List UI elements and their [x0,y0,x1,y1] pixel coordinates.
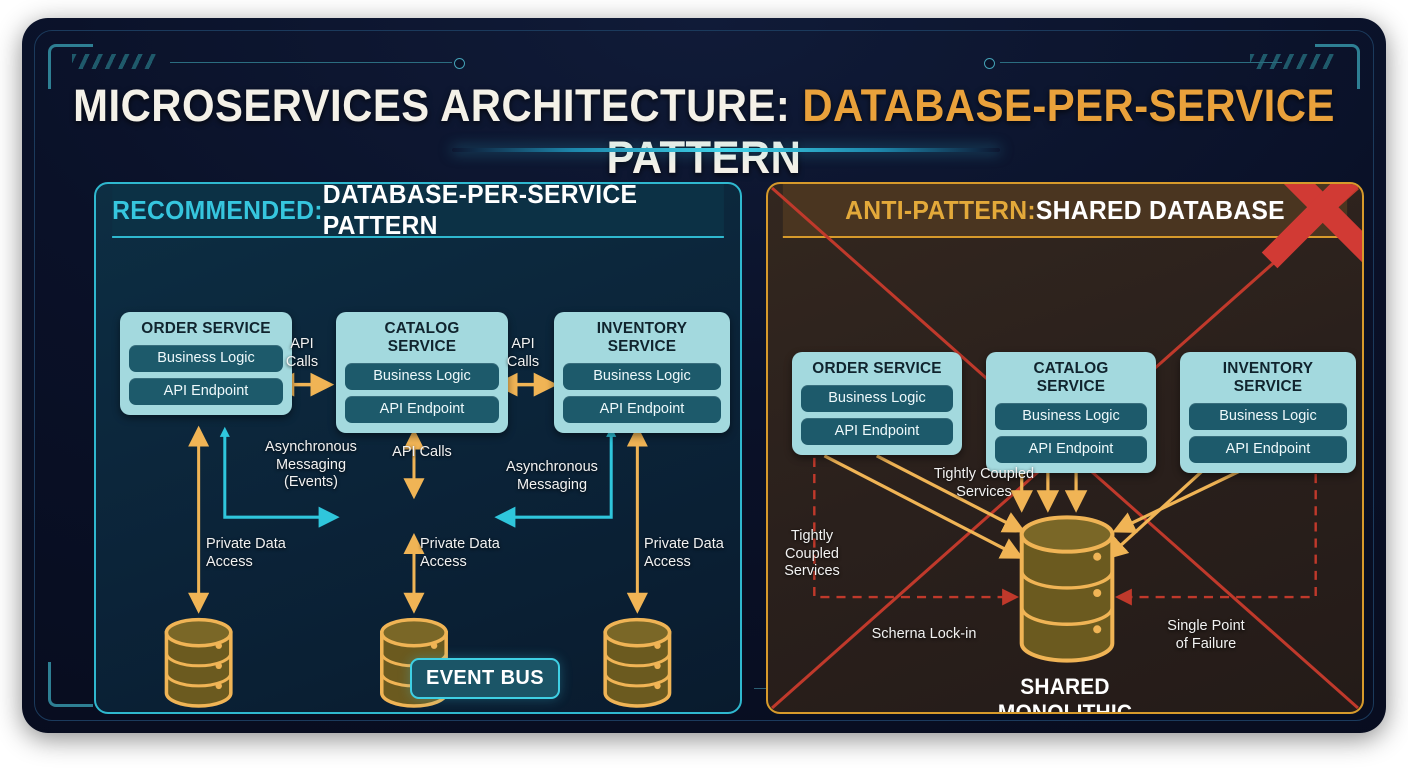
service-name: ORDER SERVICE [132,320,280,338]
service-row-api-endpoint[interactable]: API Endpoint [1189,436,1347,463]
event-bus-node[interactable]: EVENT BUS [410,658,560,699]
service-name: CATALOG SERVICE [348,320,496,356]
recommended-label: RECOMMENDED: [112,195,323,226]
db-name: ORDER DB [122,710,274,714]
label-tightly-coupled-left: Tightly Coupled Services [770,528,854,581]
label-async-left: Asynchronous Messaging (Events) [244,439,378,492]
hatch-marks-left-icon [72,54,158,69]
db-name: CATALOG DB [332,710,494,714]
recommended-panel-body: ORDER SERVICE Business Logic API Endpoin… [96,236,740,712]
header-rail-left [170,62,452,63]
service-card-inventory-shared[interactable]: INVENTORY SERVICE Business Logic API End… [1180,352,1356,473]
service-name: INVENTORY SERVICE [566,320,718,356]
header-rail-right [1000,62,1282,63]
shared-db-name-line1: SHARED MONOLITHIC [951,674,1179,714]
db-cylinder-inventory [605,620,669,706]
recommended-panel-header: RECOMMENDED: DATABASE-PER-SERVICE PATTER… [112,184,724,238]
label-api-calls-bus: API Calls [374,444,470,462]
recommended-panel: RECOMMENDED: DATABASE-PER-SERVICE PATTER… [94,182,742,714]
label-api-calls-2: API Calls [494,336,552,371]
service-row-business-logic[interactable]: Business Logic [345,363,499,390]
service-row-business-logic[interactable]: Business Logic [129,345,283,372]
left-panel-connectors [96,236,740,712]
label-async-right: Asynchronous Messaging [486,459,618,494]
corner-bracket-bottom-left-icon [48,662,93,707]
service-card-order-shared[interactable]: ORDER SERVICE Business Logic API Endpoin… [792,352,962,455]
service-row-business-logic[interactable]: Business Logic [801,385,953,412]
service-name: INVENTORY SERVICE [1192,360,1344,396]
shared-db-label: SHARED MONOLITHIC DATABASE [945,674,1185,714]
db-label-order: ORDER DB (SQL - Postgres) [118,710,278,714]
antipattern-panel-body: ORDER SERVICE Business Logic API Endpoin… [768,236,1362,712]
recommended-title: DATABASE-PER-SERVICE PATTERN [323,182,724,241]
service-name: CATALOG SERVICE [998,360,1144,396]
service-row-api-endpoint[interactable]: API Endpoint [995,436,1147,463]
service-row-business-logic[interactable]: Business Logic [563,363,721,390]
label-private-data-2: Private Data Access [420,536,520,571]
title-prefix: MICROSERVICES ARCHITECTURE: [73,80,802,131]
title-underline-glow [452,148,1000,152]
service-card-inventory[interactable]: INVENTORY SERVICE Business Logic API End… [554,312,730,433]
db-name: INVENTORY CACHE [549,710,720,714]
header-node-left-icon [454,58,465,69]
antipattern-label: ANTI-PATTERN: [845,195,1036,226]
left-db-cylinders [96,236,740,712]
service-row-business-logic[interactable]: Business Logic [995,403,1147,430]
service-row-api-endpoint[interactable]: API Endpoint [129,378,283,405]
label-api-calls-1: API Calls [274,336,330,371]
label-private-data-1: Private Data Access [206,536,306,571]
label-private-data-3: Private Data Access [644,536,742,571]
service-row-api-endpoint[interactable]: API Endpoint [563,396,721,423]
page-title: MICROSERVICES ARCHITECTURE: DATABASE-PER… [70,80,1339,184]
antipattern-panel-header: ANTI-PATTERN: SHARED DATABASE [783,184,1347,238]
db-label-catalog: CATALOG DB (NoSQL - MongoDB) [328,710,498,714]
service-name: ORDER SERVICE [804,360,950,378]
service-card-catalog-shared[interactable]: CATALOG SERVICE Business Logic API Endpo… [986,352,1156,473]
infographic-canvas: MICROSERVICES ARCHITECTURE: DATABASE-PER… [0,0,1408,768]
db-cylinder-order [166,620,230,706]
db-label-inventory: INVENTORY CACHE (Cache - Redis) [544,710,724,714]
header-node-right-icon [984,58,995,69]
title-suffix: PATTERN [607,132,802,183]
outer-frame: MICROSERVICES ARCHITECTURE: DATABASE-PER… [22,18,1386,733]
antipattern-panel: ANTI-PATTERN: SHARED DATABASE [766,182,1364,714]
service-row-api-endpoint[interactable]: API Endpoint [345,396,499,423]
service-row-api-endpoint[interactable]: API Endpoint [801,418,953,445]
label-tightly-coupled-top: Tightly Coupled Services [916,466,1052,501]
service-card-order[interactable]: ORDER SERVICE Business Logic API Endpoin… [120,312,292,415]
service-row-business-logic[interactable]: Business Logic [1189,403,1347,430]
antipattern-title: SHARED DATABASE [1036,195,1285,226]
service-card-catalog[interactable]: CATALOG SERVICE Business Logic API Endpo… [336,312,508,433]
label-single-point-of-failure: Single Point of Failure [1146,618,1266,653]
hatch-marks-right-icon [1250,54,1336,69]
label-schema-lock-in: Scherna Lock-in [854,626,994,644]
title-highlight: DATABASE-PER-SERVICE [802,80,1334,131]
